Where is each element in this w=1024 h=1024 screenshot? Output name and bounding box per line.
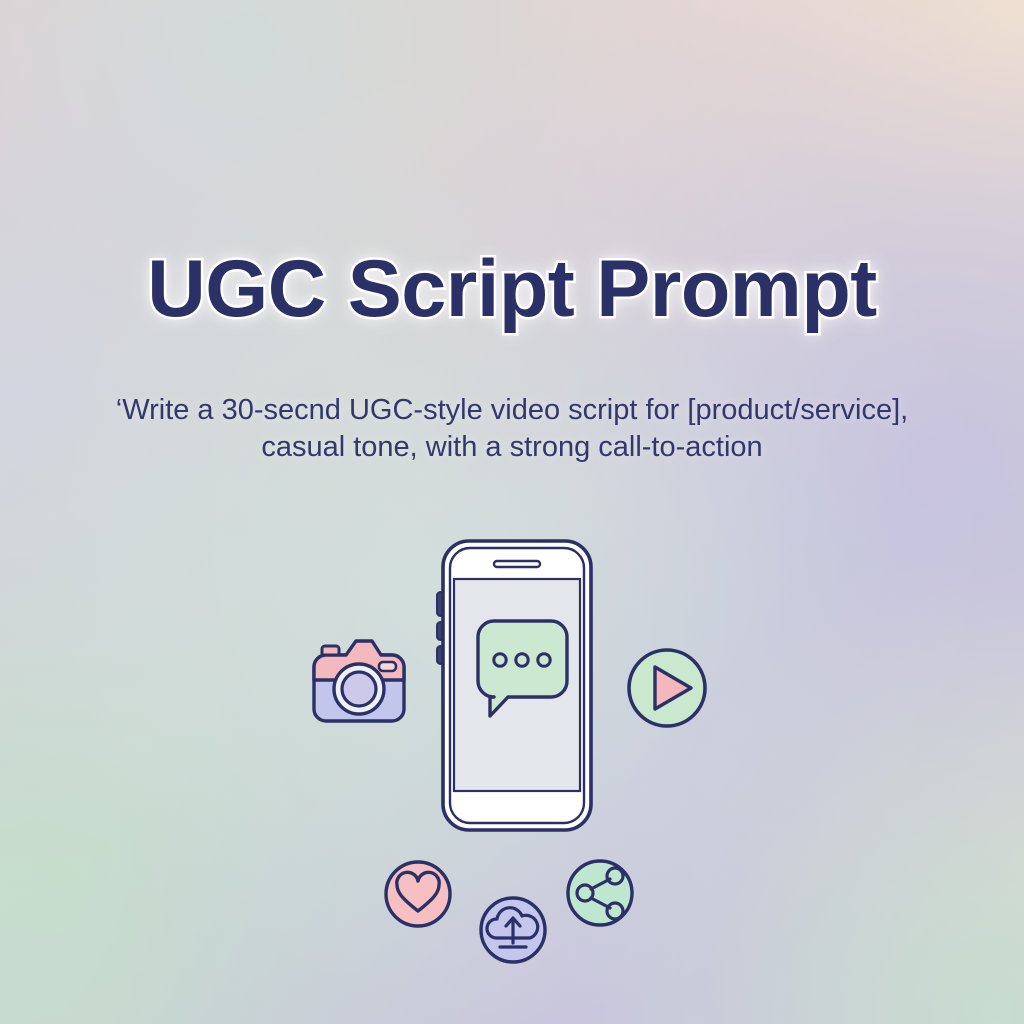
poster-canvas: UGC Script Prompt ‘Write a 30-secnd UGC-… [0, 0, 1024, 1024]
heart-icon[interactable] [386, 862, 450, 926]
camera-lens-inner [342, 672, 376, 706]
illustration-svg [0, 0, 1024, 1024]
camera-icon [314, 641, 404, 721]
play-icon[interactable] [629, 650, 705, 726]
heart-circle[interactable] [386, 862, 450, 926]
share-icon[interactable] [568, 861, 632, 925]
illustration-group [0, 0, 1024, 1024]
phone-speaker-slot [494, 561, 540, 567]
smartphone [437, 541, 591, 830]
camera-flash [379, 662, 396, 671]
cloud-upload-icon[interactable] [481, 898, 545, 962]
camera-viewfinder-nub [322, 646, 339, 655]
